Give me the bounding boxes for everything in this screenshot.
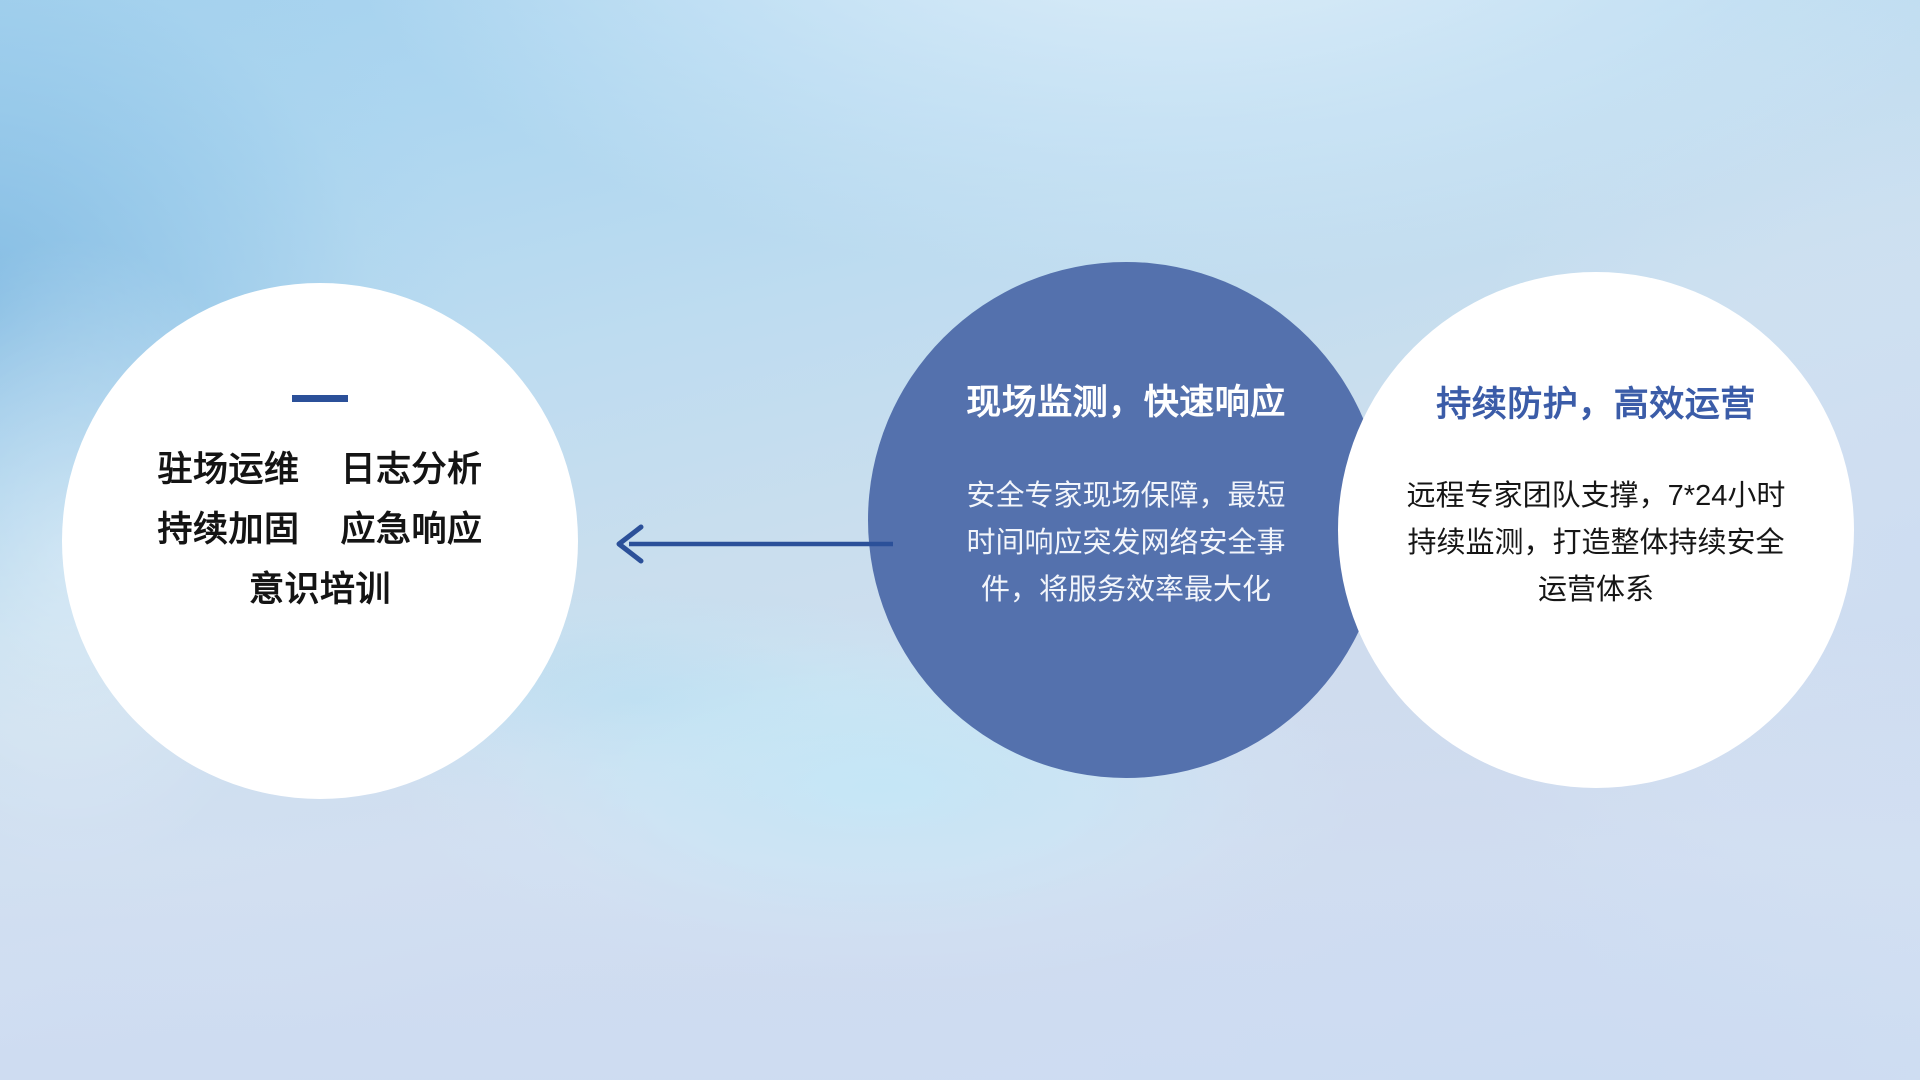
onsite-monitoring-circle[interactable]: 现场监测，快速响应 安全专家现场保障，最短时间响应突发网络安全事件，将服务效率最… bbox=[868, 262, 1384, 778]
onsite-monitoring-body: 安全专家现场保障，最短时间响应突发网络安全事件，将服务效率最大化 bbox=[965, 473, 1287, 614]
divider-dash-icon bbox=[292, 395, 348, 402]
service-keywords-circle[interactable]: 驻场运维 日志分析 持续加固 应急响应 意识培训 bbox=[62, 283, 578, 799]
slide-canvas: 驻场运维 日志分析 持续加固 应急响应 意识培训 现场监测，快速响应 安全专家现… bbox=[0, 0, 1920, 1080]
list-item: 驻场运维 日志分析 bbox=[158, 440, 483, 500]
list-item: 持续加固 应急响应 bbox=[158, 500, 483, 560]
continuous-protection-circle[interactable]: 持续防护，高效运营 远程专家团队支撑，7*24小时持续监测，打造整体持续安全运营… bbox=[1338, 272, 1854, 788]
service-keywords-list: 驻场运维 日志分析 持续加固 应急响应 意识培训 bbox=[158, 440, 483, 621]
continuous-protection-body: 远程专家团队支撑，7*24小时持续监测，打造整体持续安全运营体系 bbox=[1401, 473, 1791, 614]
continuous-protection-title: 持续防护，高效运营 bbox=[1436, 376, 1756, 427]
onsite-monitoring-title: 现场监测，快速响应 bbox=[966, 374, 1286, 425]
list-item: 意识培训 bbox=[158, 560, 483, 620]
flow-arrow-left-icon bbox=[595, 508, 895, 580]
